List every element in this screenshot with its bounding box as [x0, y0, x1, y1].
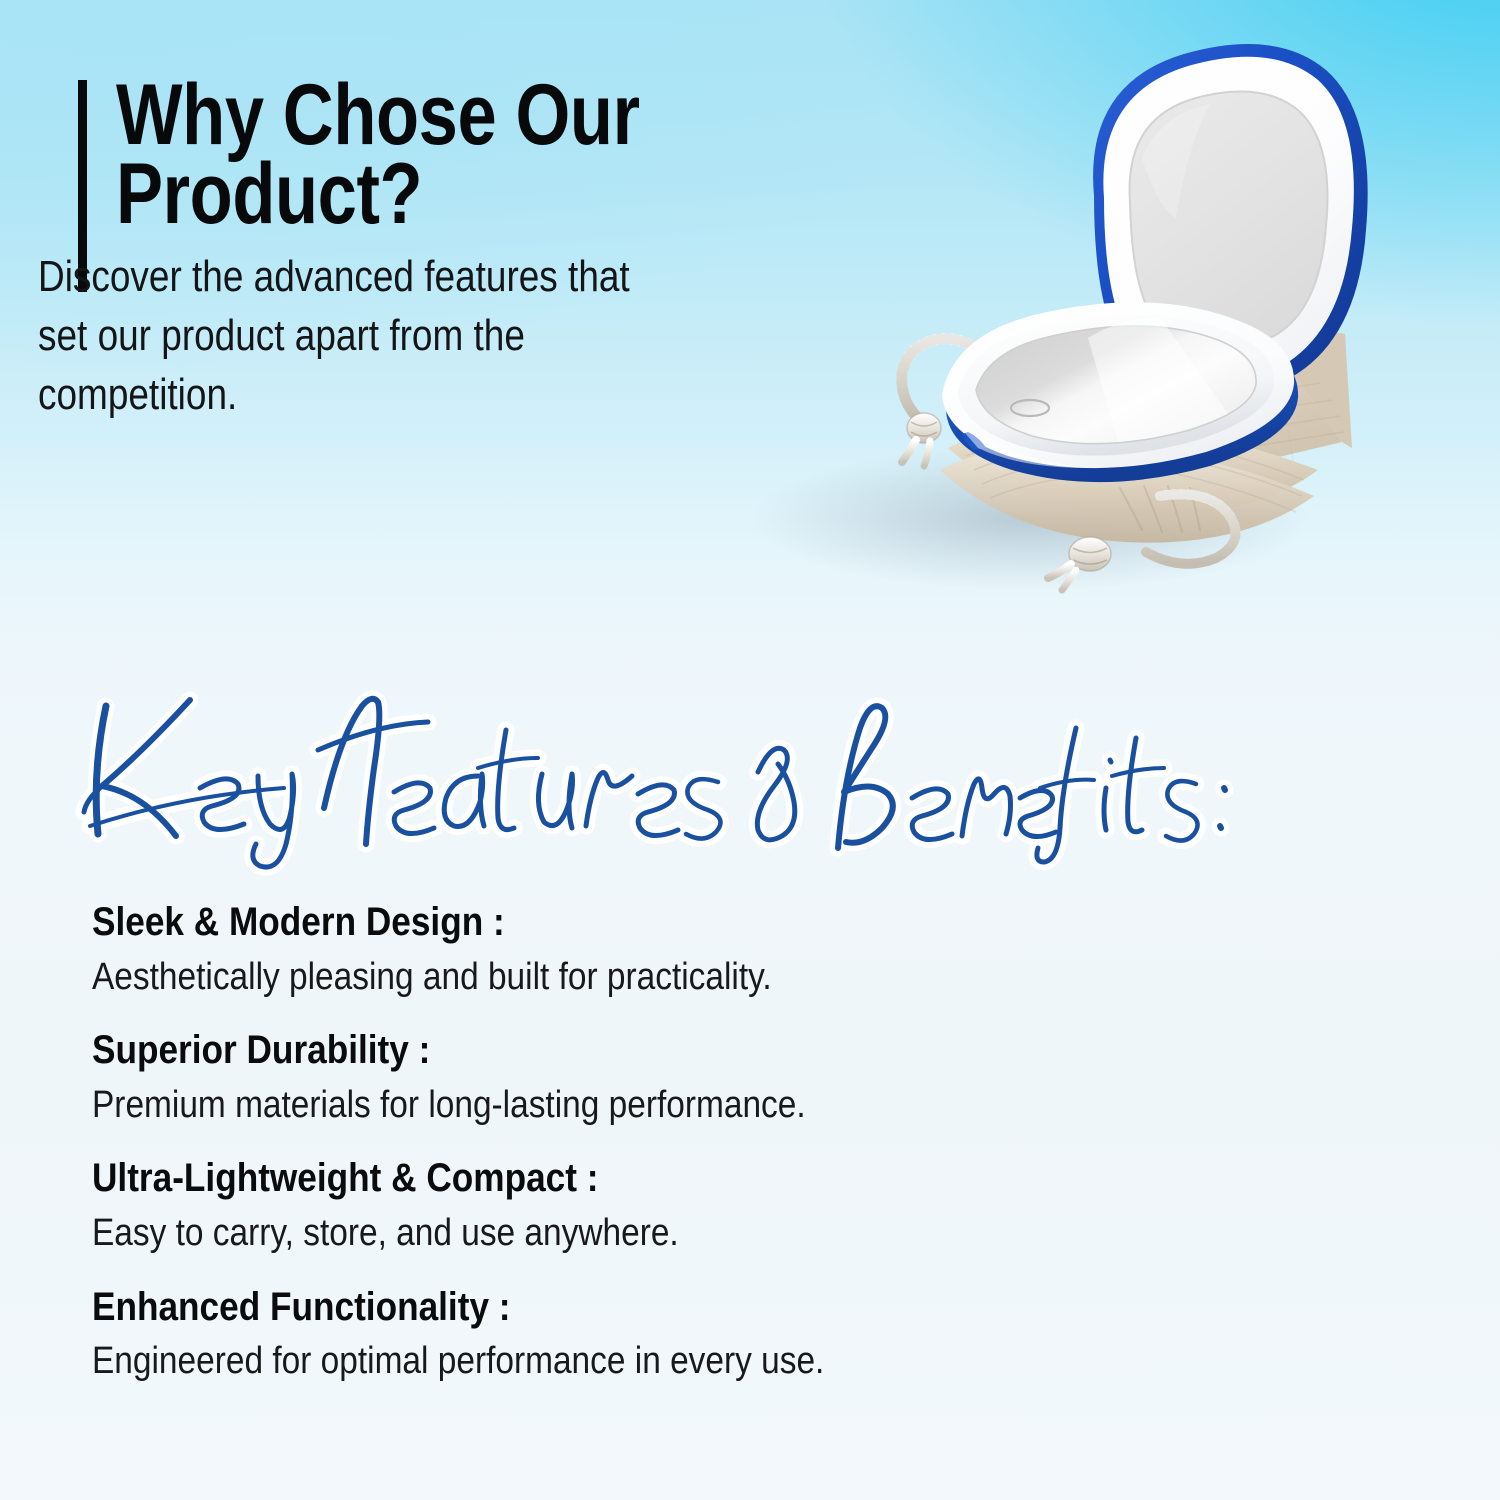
headline-block: Why Chose Our Product?: [78, 76, 718, 234]
feature-item: Ultra-Lightweight & Compact : Easy to ca…: [92, 1154, 1092, 1258]
feature-description: Engineered for optimal performance in ev…: [92, 1337, 972, 1386]
feature-list: Sleek & Modern Design : Aesthetically pl…: [92, 898, 1092, 1411]
feature-heading: Sleek & Modern Design :: [92, 898, 972, 947]
feature-description: Premium materials for long-lasting perfo…: [92, 1081, 972, 1130]
feature-heading: Superior Durability :: [92, 1026, 972, 1075]
feature-item: Superior Durability : Premium materials …: [92, 1026, 1092, 1130]
feature-heading: Enhanced Functionality :: [92, 1283, 972, 1332]
feature-description: Aesthetically pleasing and built for pra…: [92, 953, 972, 1002]
page-title: Why Chose Our Product?: [116, 76, 756, 234]
feature-item: Enhanced Functionality : Engineered for …: [92, 1283, 1092, 1387]
page-subtitle: Discover the advanced features that set …: [38, 248, 643, 425]
section-heading-key-features: [72, 676, 1082, 876]
feature-item: Sleek & Modern Design : Aesthetically pl…: [92, 898, 1092, 1002]
feature-description: Easy to carry, store, and use anywhere.: [92, 1209, 972, 1258]
product-image: [690, 18, 1410, 638]
feature-heading: Ultra-Lightweight & Compact :: [92, 1154, 972, 1203]
